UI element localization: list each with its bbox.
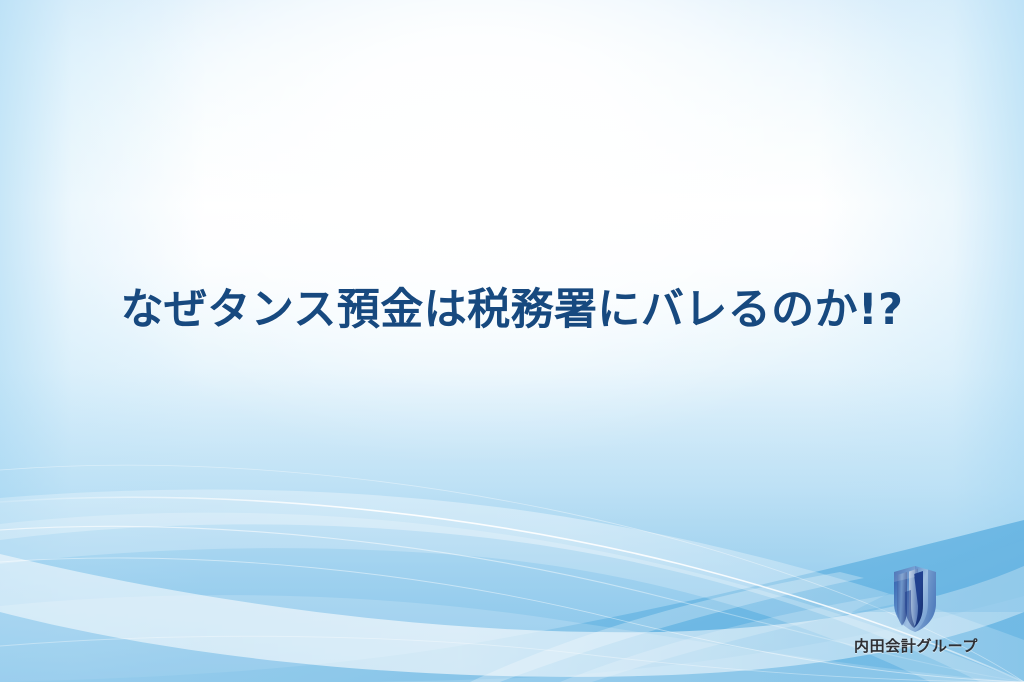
uchida-group-shield-icon bbox=[886, 565, 944, 633]
logo-lockup: 内田会計グループ bbox=[836, 565, 996, 656]
slide-canvas: なぜタンス預金は税務署にバレるのか!? bbox=[0, 0, 1024, 682]
slide-title: なぜタンス預金は税務署にバレるのか!? bbox=[121, 286, 904, 334]
logo-company-name: 内田会計グループ bbox=[854, 635, 978, 656]
title-container: なぜタンス預金は税務署にバレるのか!? bbox=[0, 286, 1024, 334]
